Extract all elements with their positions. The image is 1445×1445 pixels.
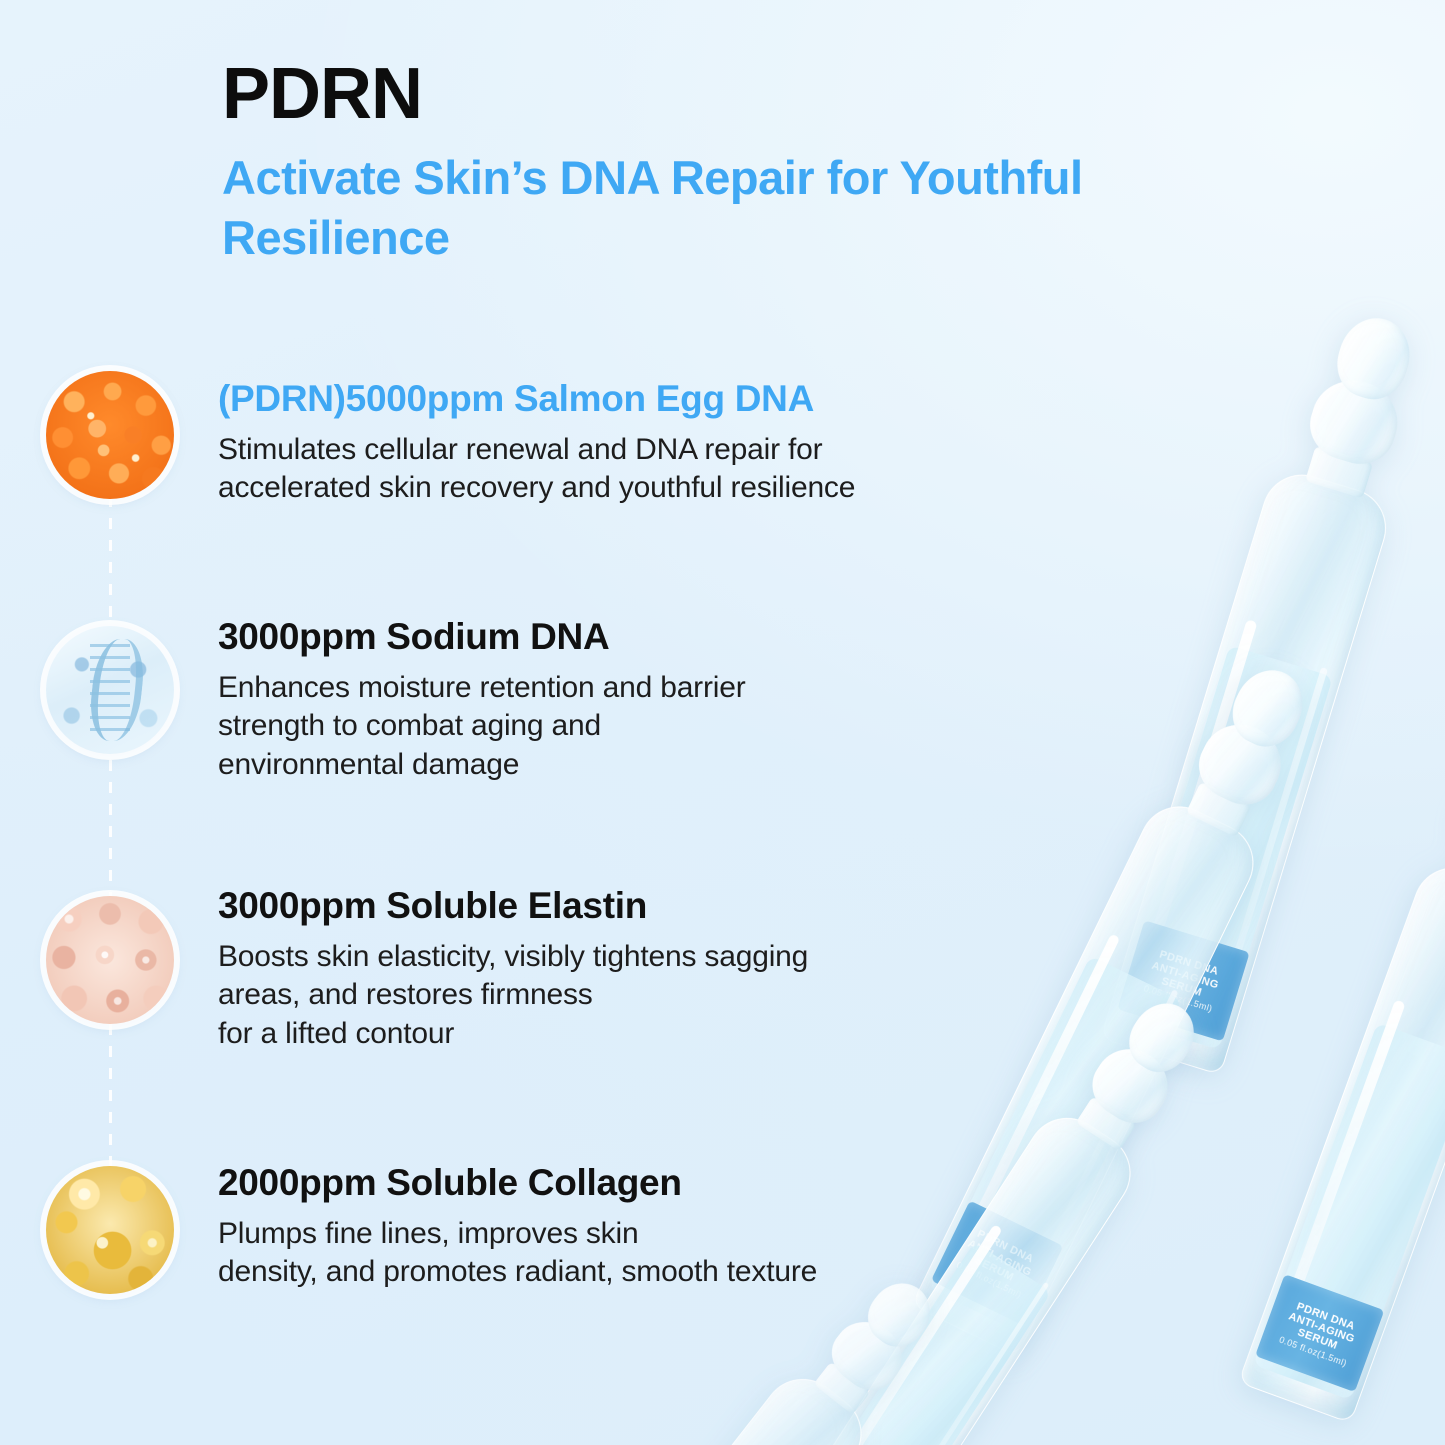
feature-text-3: 3000ppm Soluble Elastin Boosts skin elas… <box>218 885 1058 1053</box>
salmon-roe-icon <box>46 371 174 499</box>
timeline-dashed-connector <box>109 430 112 1230</box>
feature-title-3: 3000ppm Soluble Elastin <box>218 885 1058 927</box>
salmon-roe-texture <box>46 371 174 499</box>
elastin-cells-icon <box>46 896 174 1024</box>
content-layer: PDRN Activate Skin’s DNA Repair for Yout… <box>0 0 1445 1445</box>
feature-description-4: Plumps fine lines, improves skin density… <box>218 1215 1068 1292</box>
feature-description-3: Boosts skin elasticity, visibly tightens… <box>218 938 1058 1053</box>
feature-title-2: 3000ppm Sodium DNA <box>218 616 978 658</box>
feature-text-2: 3000ppm Sodium DNA Enhances moisture ret… <box>218 616 978 784</box>
dna-helix-icon <box>46 626 174 754</box>
feature-description-1: Stimulates cellular renewal and DNA repa… <box>218 431 1088 508</box>
title-block: PDRN Activate Skin’s DNA Repair for Yout… <box>222 58 1202 268</box>
page-title: PDRN <box>222 58 1202 130</box>
feature-description-2: Enhances moisture retention and barrier … <box>218 669 978 784</box>
feature-title-4: 2000ppm Soluble Collagen <box>218 1162 1068 1204</box>
infographic-canvas: PDRN DNA ANTI-AGING SERUM 0.05 fl.oz(1.5… <box>0 0 1445 1445</box>
feature-text-4: 2000ppm Soluble Collagen Plumps fine lin… <box>218 1162 1068 1292</box>
collagen-oil-icon <box>46 1166 174 1294</box>
feature-title-1: (PDRN)5000ppm Salmon Egg DNA <box>218 378 1088 420</box>
page-subtitle: Activate Skin’s DNA Repair for Youthful … <box>222 148 1202 268</box>
elastin-cells-texture <box>46 896 174 1024</box>
dna-helix-texture <box>46 626 174 754</box>
collagen-oil-texture <box>46 1166 174 1294</box>
dna-rungs <box>90 644 131 736</box>
feature-text-1: (PDRN)5000ppm Salmon Egg DNA Stimulates … <box>218 378 1088 508</box>
